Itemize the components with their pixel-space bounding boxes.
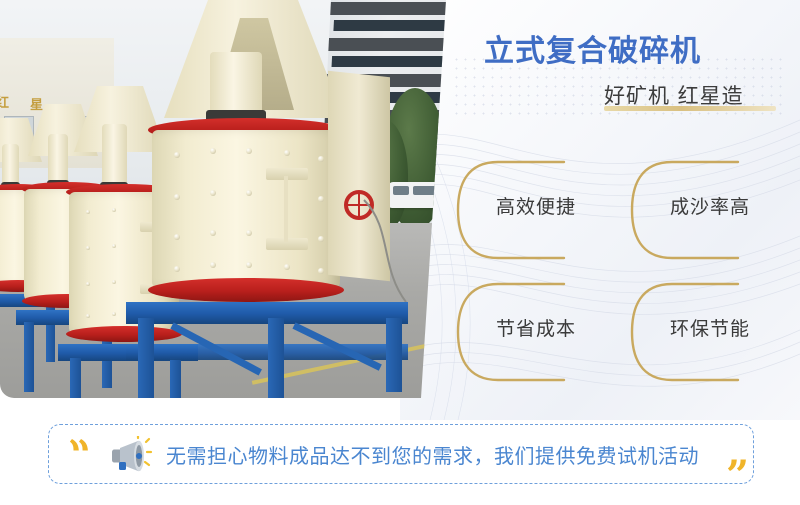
- open-quote-mark: ”: [68, 414, 91, 454]
- close-quote-mark: ”: [726, 456, 749, 496]
- promo-text: 无需担心物料成品达不到您的需求，我们提供免费试机活动: [166, 440, 699, 469]
- feature-badge-list: 高效便捷 成沙率高 节省成本 环保节能: [452, 152, 800, 392]
- feature-badge-label: 高效便捷: [496, 192, 576, 219]
- feature-badge: 高效便捷: [452, 152, 626, 270]
- feature-badge-label: 节省成本: [496, 314, 576, 341]
- feature-badge: 成沙率高: [626, 152, 800, 270]
- banner-title: 立式复合破碎机: [484, 26, 701, 70]
- feature-badge-label: 环保节能: [670, 314, 750, 341]
- photo-rod: [284, 176, 288, 242]
- product-photo: 红 星 品: [0, 0, 446, 398]
- banner-subtitle: 好矿机 红星造: [604, 80, 744, 110]
- photo-sign-char: 红: [0, 92, 9, 111]
- promo-banner: 红 星 品: [0, 0, 800, 505]
- feature-badge: 节省成本: [452, 274, 626, 392]
- feature-badge-label: 成沙率高: [670, 192, 750, 219]
- photo-crusher-machine-main: [148, 0, 408, 398]
- feature-badge: 环保节能: [626, 274, 800, 392]
- photo-cable: [362, 198, 418, 308]
- banner-subtitle-wrap: 好矿机 红星造: [604, 80, 744, 110]
- megaphone-icon: [108, 436, 154, 474]
